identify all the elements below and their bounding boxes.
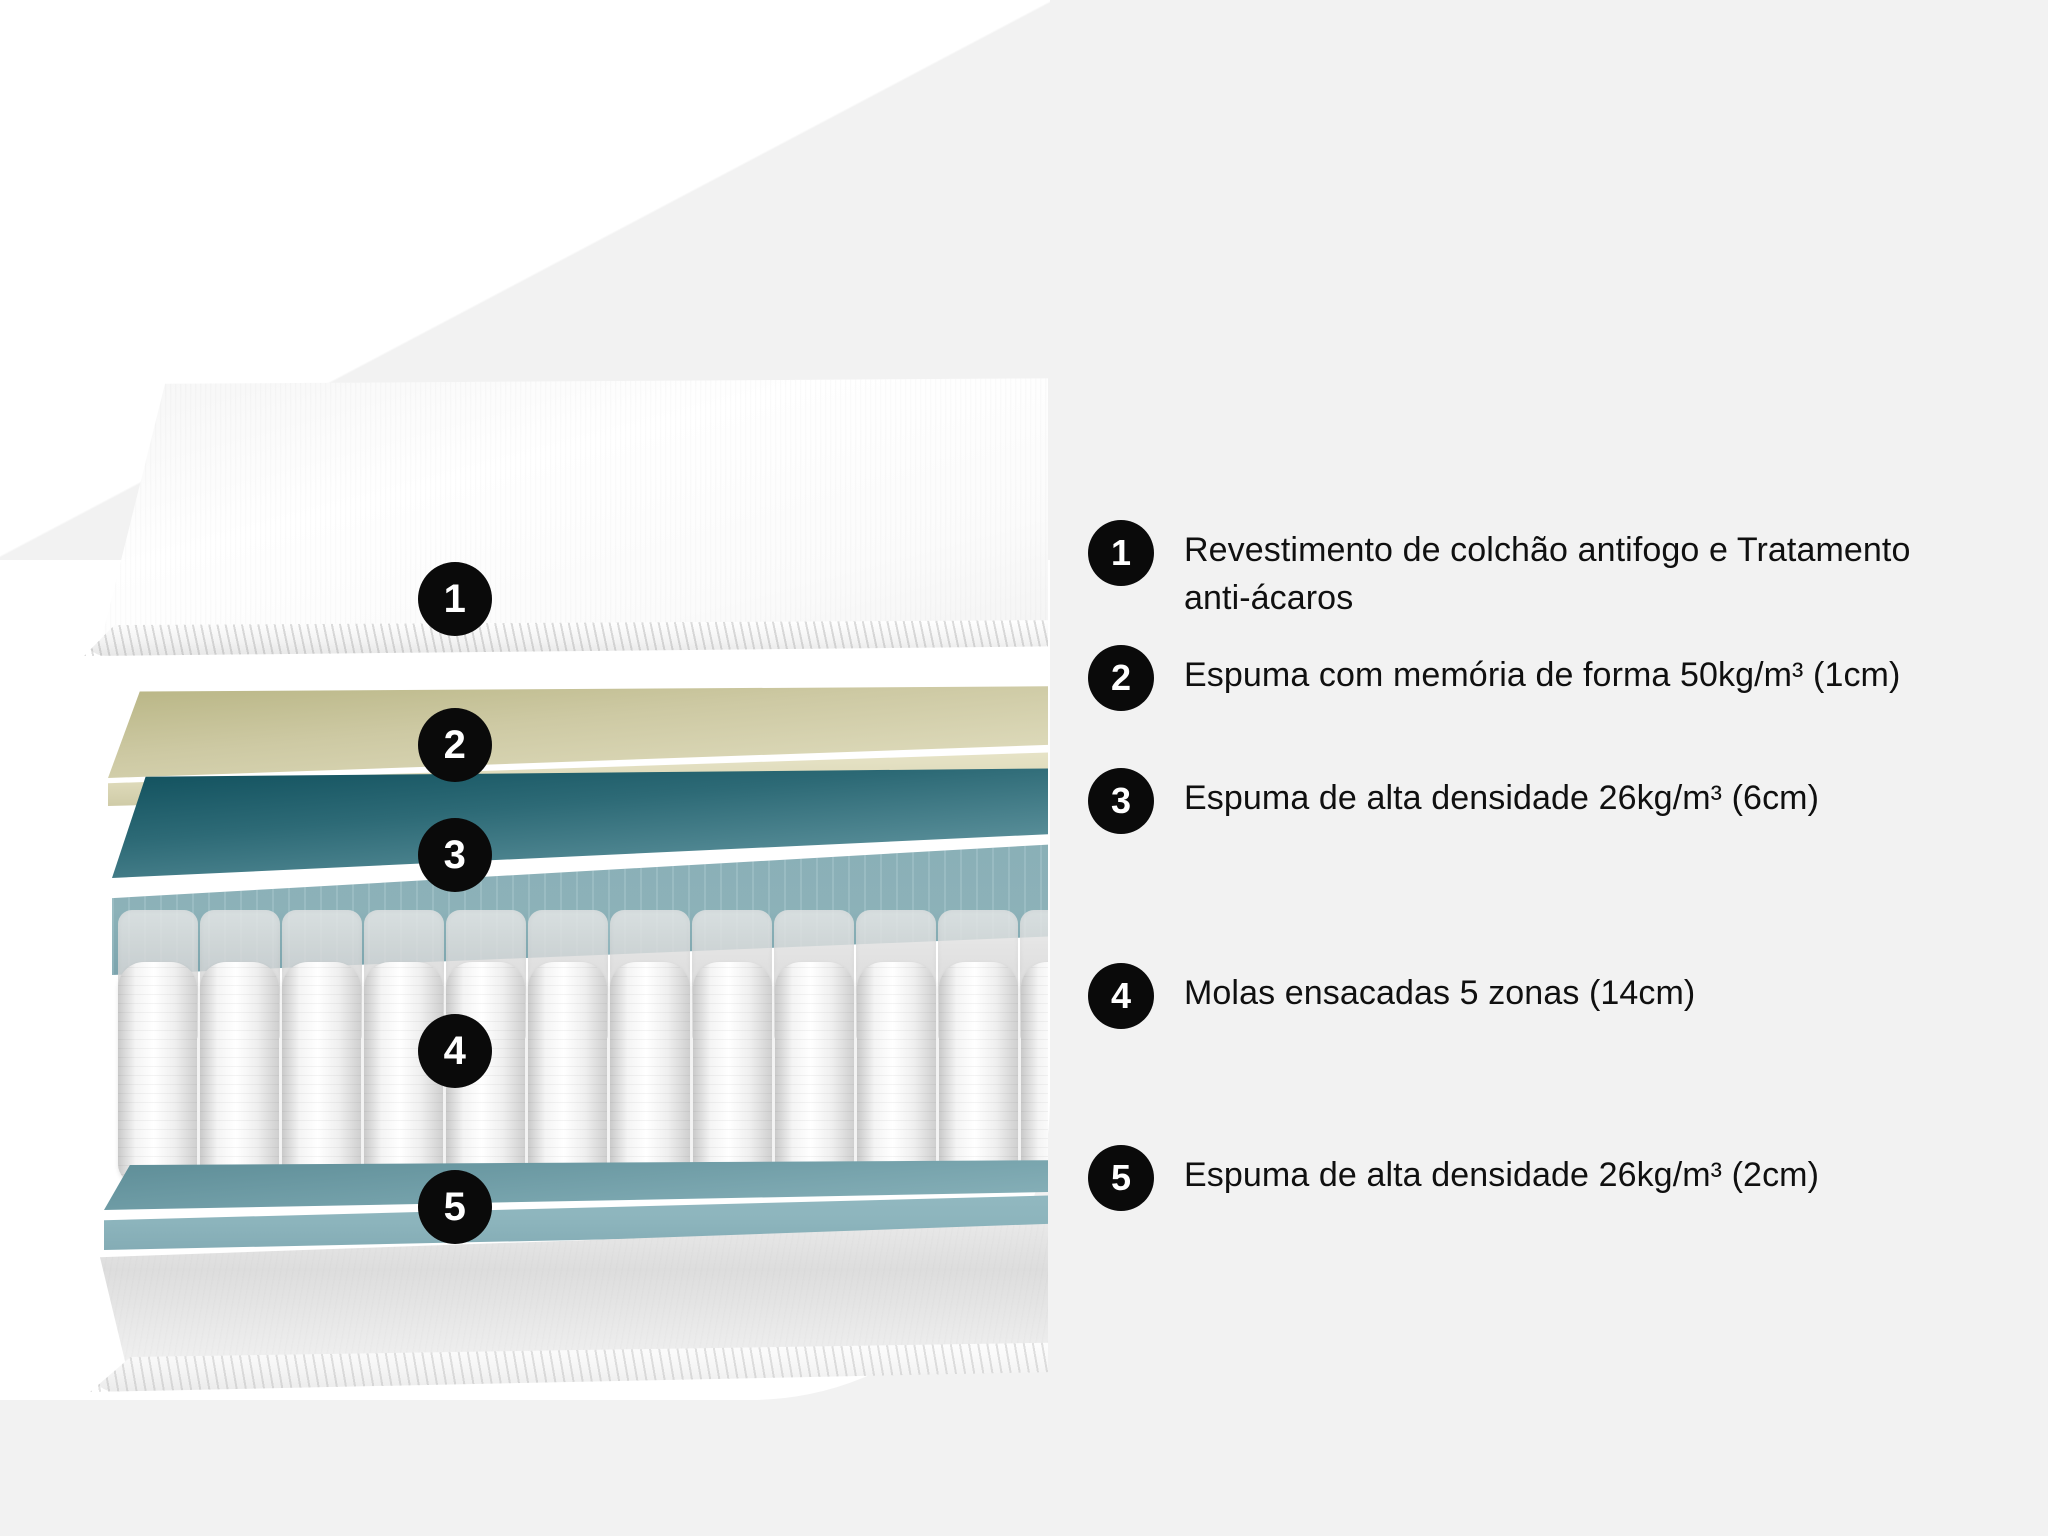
mattress-layer-4-pocket-springs [118, 910, 1048, 1180]
pocket-spring [693, 962, 772, 1184]
legend-label-3: Espuma de alta densidade 26kg/m³ (6cm) [1184, 768, 1819, 822]
diagram-badge-2: 2 [418, 708, 492, 782]
legend-label-5: Espuma de alta densidade 26kg/m³ (2cm) [1184, 1145, 1819, 1199]
diagram-badge-5: 5 [418, 1170, 492, 1244]
legend-label-2: Espuma com memória de forma 50kg/m³ (1cm… [1184, 645, 1900, 699]
legend-badge-4: 4 [1088, 963, 1154, 1029]
pocket-spring [282, 962, 361, 1184]
spring-front-row [118, 962, 1048, 1184]
diagram-badge-4: 4 [418, 1014, 492, 1088]
legend-badge-1: 1 [1088, 520, 1154, 586]
legend-item-4: 4 Molas ensacadas 5 zonas (14cm) [1088, 963, 1695, 1029]
mattress-illustration: 1 2 3 4 5 [0, 0, 1048, 1536]
mattress-base-panel [100, 1222, 1048, 1422]
legend-label-4: Molas ensacadas 5 zonas (14cm) [1184, 963, 1695, 1017]
cover-piping [84, 620, 1048, 656]
legend-badge-3: 3 [1088, 768, 1154, 834]
pocket-spring [610, 962, 689, 1184]
mattress-layers-infographic: 1 2 3 4 5 1 Revestimento de colchão anti… [0, 0, 2048, 1536]
legend-item-5: 5 Espuma de alta densidade 26kg/m³ (2cm) [1088, 1145, 1819, 1211]
legend-item-3: 3 Espuma de alta densidade 26kg/m³ (6cm) [1088, 768, 1819, 834]
diagram-badge-1: 1 [418, 562, 492, 636]
legend-label-1: Revestimento de colchão antifogo e Trata… [1184, 520, 1974, 623]
pocket-spring [1021, 962, 1048, 1184]
pocket-spring [200, 962, 279, 1184]
legend-badge-5: 5 [1088, 1145, 1154, 1211]
pocket-spring [857, 962, 936, 1184]
pocket-spring [118, 962, 197, 1184]
mattress-layer-1-cover [100, 378, 1048, 678]
legend-badge-2: 2 [1088, 645, 1154, 711]
pocket-spring [939, 962, 1018, 1184]
pocket-spring [775, 962, 854, 1184]
legend-item-1: 1 Revestimento de colchão antifogo e Tra… [1088, 520, 1974, 623]
legend-item-2: 2 Espuma com memória de forma 50kg/m³ (1… [1088, 645, 1900, 711]
pocket-spring [528, 962, 607, 1184]
diagram-badge-3: 3 [418, 818, 492, 892]
